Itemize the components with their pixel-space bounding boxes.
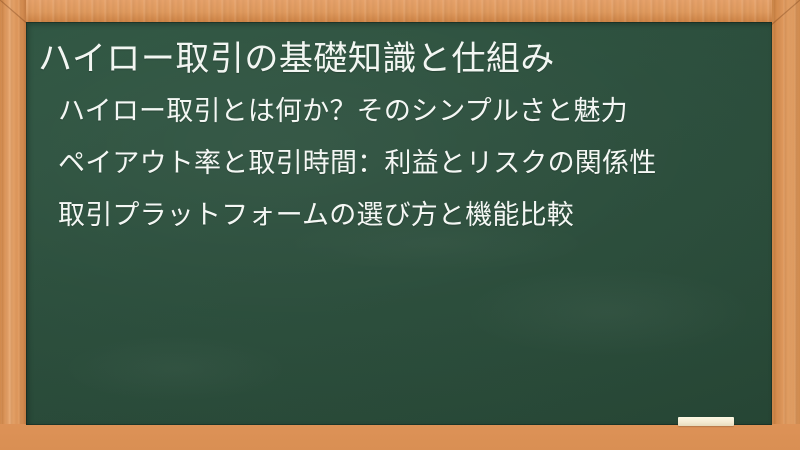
chalkboard: ハイロー取引の基礎知識と仕組み ハイロー取引とは何か？そのシンプルさと魅力 ペイ… bbox=[26, 22, 772, 425]
list-item: ペイアウト率と取引時間：利益とリスクの関係性 bbox=[58, 150, 754, 177]
frame-rail-top bbox=[0, 0, 800, 22]
chalkboard-content: ハイロー取引の基礎知識と仕組み ハイロー取引とは何か？そのシンプルさと魅力 ペイ… bbox=[26, 22, 772, 425]
list-item: 取引プラットフォームの選び方と機能比較 bbox=[58, 202, 754, 229]
slide-title: ハイロー取引の基礎知識と仕組み bbox=[38, 40, 754, 78]
frame-rail-bottom bbox=[0, 424, 800, 450]
slide-topic-list: ハイロー取引とは何か？そのシンプルさと魅力 ペイアウト率と取引時間：利益とリスク… bbox=[34, 98, 754, 229]
frame-rail-left bbox=[0, 0, 26, 450]
list-item: ハイロー取引とは何か？そのシンプルさと魅力 bbox=[58, 98, 754, 125]
chalkboard-slide: ハイロー取引の基礎知識と仕組み ハイロー取引とは何か？そのシンプルさと魅力 ペイ… bbox=[0, 0, 800, 450]
frame-rail-right bbox=[772, 0, 800, 450]
chalk-stick bbox=[678, 417, 734, 426]
